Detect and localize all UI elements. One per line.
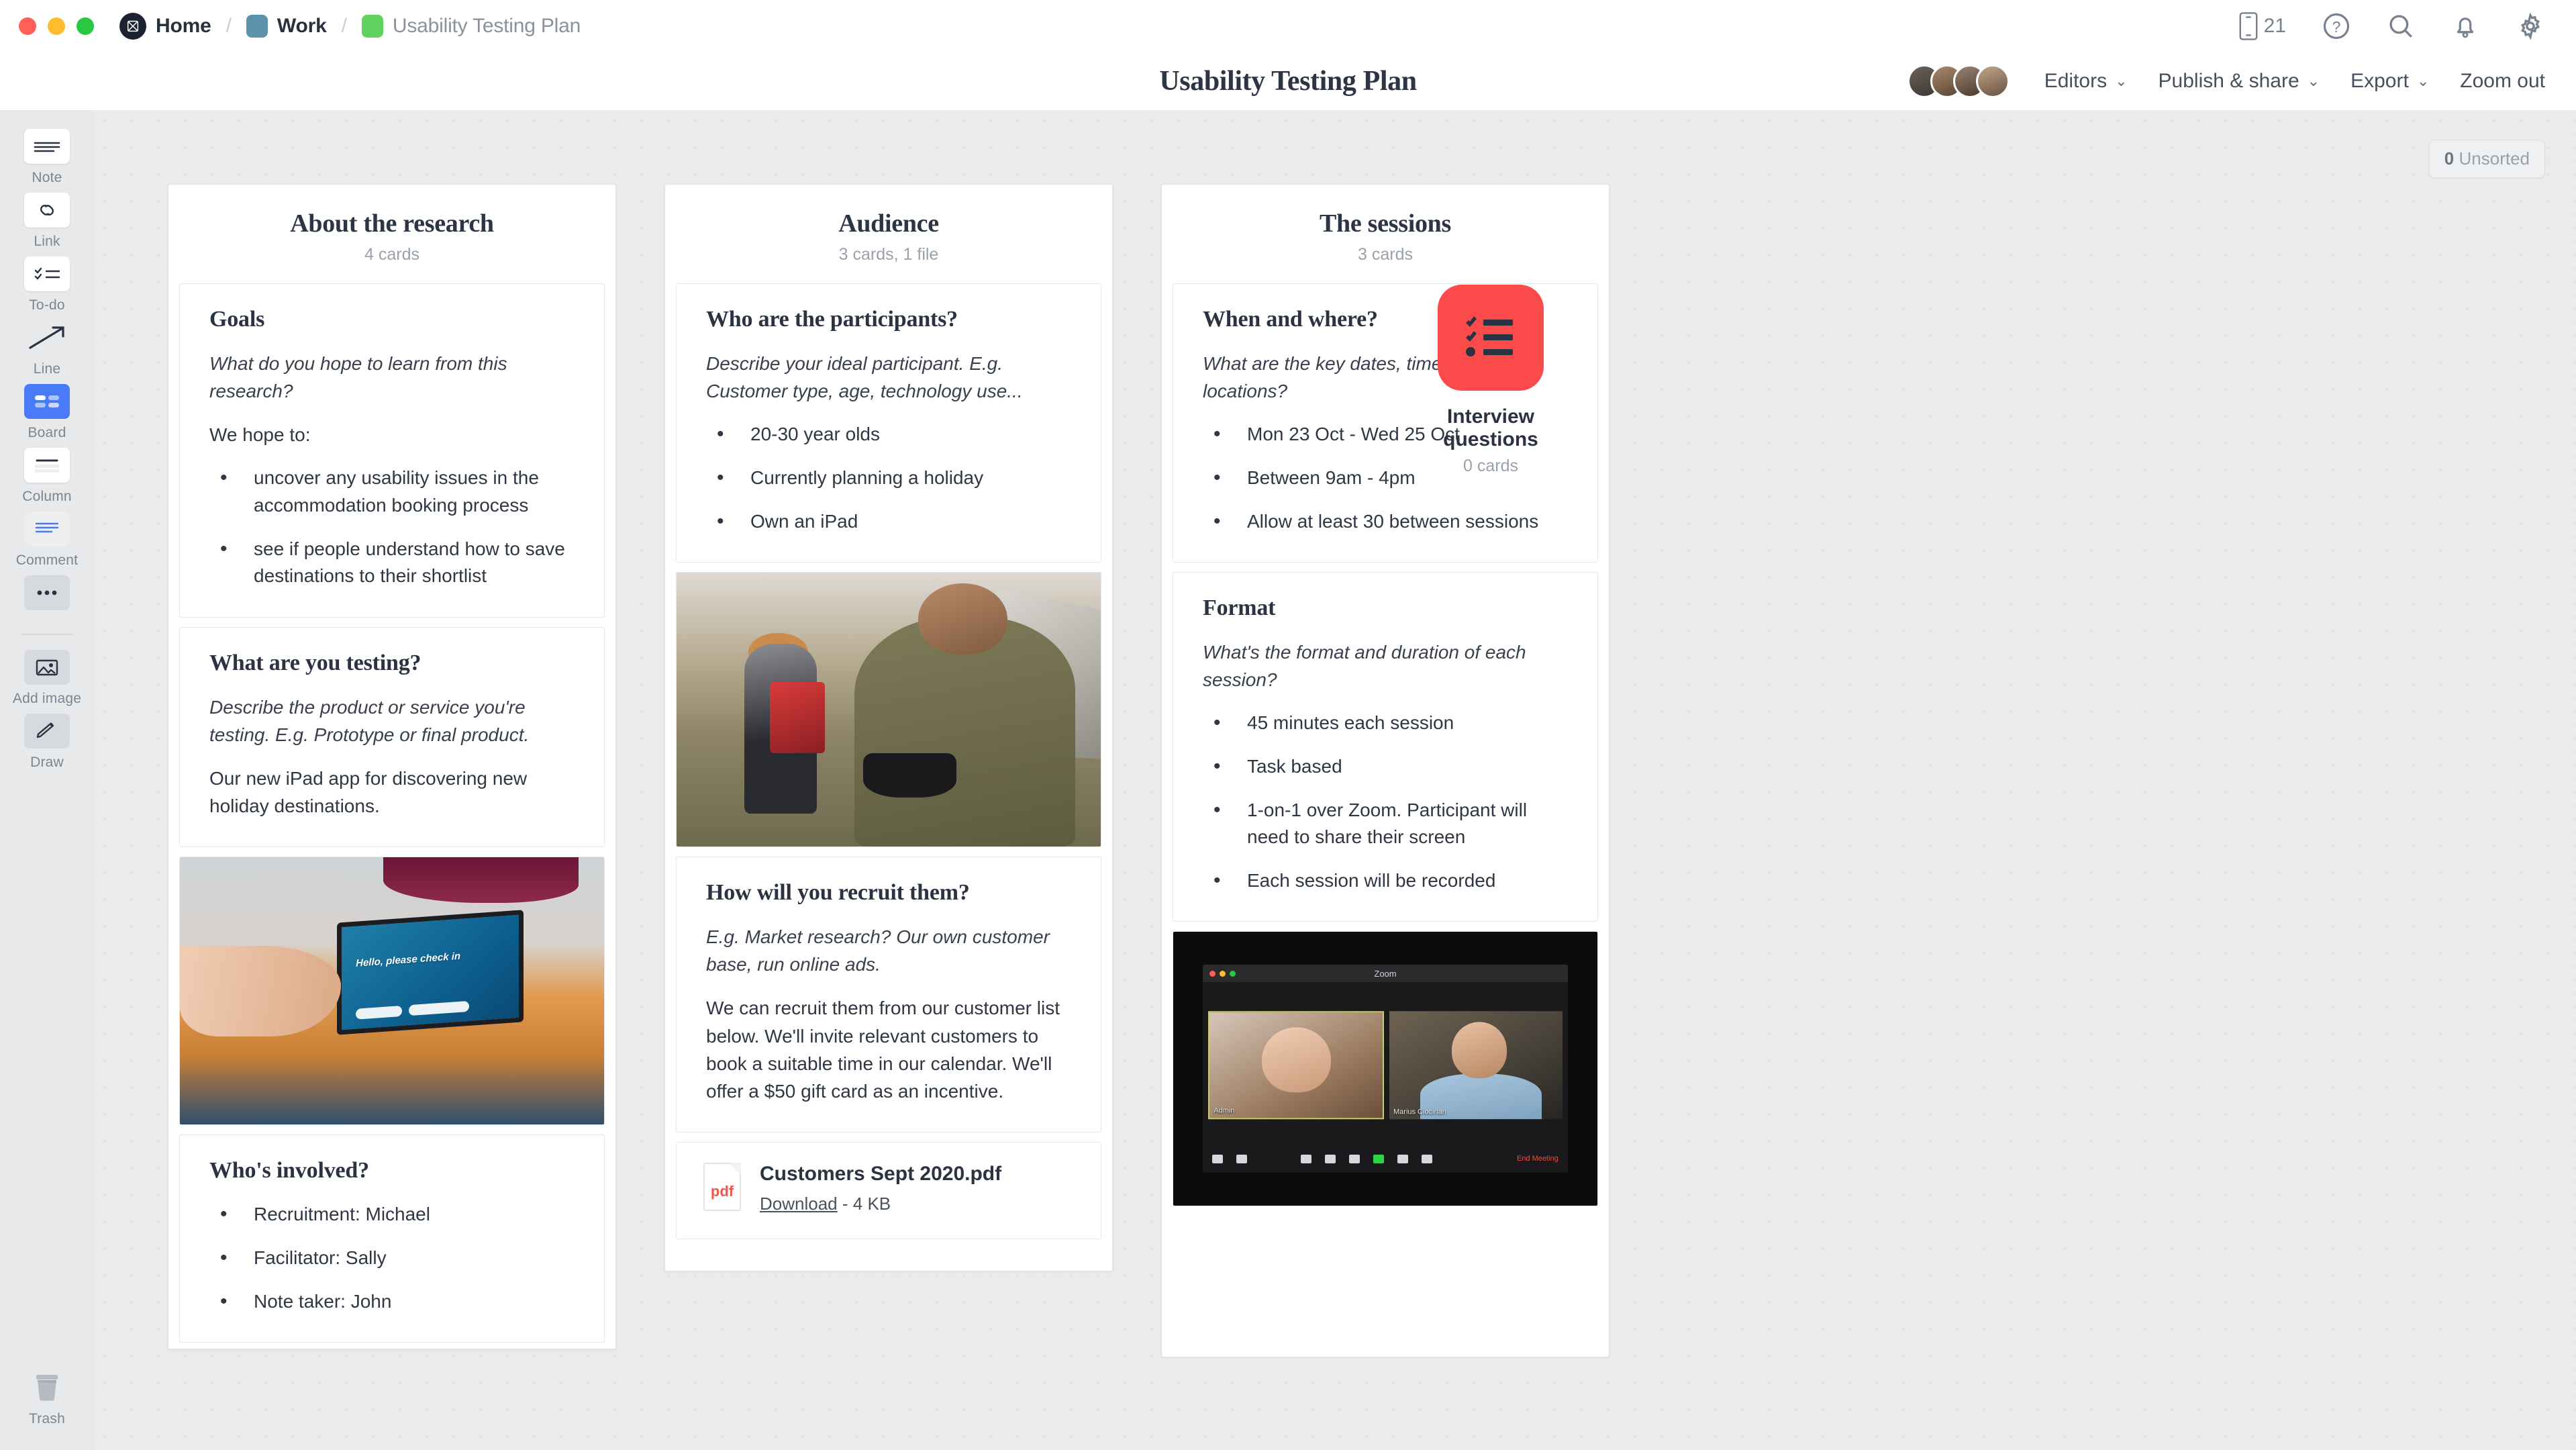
zoom-share-screen-icon [1373, 1155, 1384, 1163]
card-body: We hope to: [209, 421, 575, 448]
column-header: Audience 3 cards, 1 file [665, 185, 1112, 283]
breadcrumb-separator: / [226, 15, 232, 38]
trash-icon [24, 1370, 70, 1405]
zoom-participant-name: Admin [1213, 1106, 1234, 1114]
column-title: Audience [665, 209, 1112, 238]
ipad-screen-button [409, 1001, 469, 1016]
topbar-actions: 21 ? [2238, 11, 2545, 41]
board-canvas[interactable]: 0 Unsorted About the research 4 cards Go… [94, 110, 2576, 1450]
card-bullet-list: 20-30 year olds Currently planning a hol… [711, 421, 1071, 535]
card-title: Who's involved? [209, 1158, 575, 1183]
card-hint: Describe the product or service you're t… [209, 693, 575, 748]
column-subtitle: 3 cards, 1 file [665, 245, 1112, 264]
column-icon [24, 448, 70, 483]
breadcrumb: Home / Work / Usability Testing Plan [119, 13, 581, 40]
list-item: 1-on-1 over Zoom. Participant will need … [1208, 797, 1568, 851]
zoom-participant-face [1262, 1027, 1331, 1092]
sidebar-label-line: Line [34, 361, 61, 377]
avatar [1976, 64, 2010, 98]
gear-icon[interactable] [2516, 11, 2545, 41]
card-what-are-you-testing[interactable]: What are you testing? Describe the produ… [179, 627, 605, 848]
close-window-button[interactable] [19, 17, 36, 35]
document-toolbar: Usability Testing Plan Editors ⌄ Publish… [0, 52, 2576, 110]
sidebar-label-todo: To-do [29, 297, 65, 313]
card-body: We can recruit them from our customer li… [706, 994, 1071, 1105]
sidebar-item-board[interactable]: Board [0, 384, 94, 441]
zoom-participant-tile: Admin [1208, 1011, 1384, 1119]
toolbar-actions: Editors ⌄ Publish & share ⌄ Export ⌄ Zoo… [1908, 64, 2545, 98]
zoom-participant-tile: Marius Ciocirlan [1389, 1011, 1563, 1119]
list-item: see if people understand how to save des… [215, 536, 575, 590]
sidebar-item-note[interactable]: Note [0, 129, 94, 186]
board-tile-subtitle: 0 cards [1414, 456, 1568, 476]
unsorted-label: Unsorted [2459, 148, 2530, 168]
column-subtitle: 4 cards [168, 245, 615, 264]
zoom-out-button[interactable]: Zoom out [2460, 70, 2545, 93]
zoom-mute-icon [1212, 1155, 1223, 1163]
sidebar-item-trash[interactable]: Trash [24, 1370, 70, 1427]
card-image-hikers[interactable] [676, 572, 1101, 847]
sidebar-item-comment[interactable]: Comment [0, 512, 94, 569]
todo-icon [24, 256, 70, 291]
list-item: Currently planning a holiday [711, 465, 1071, 492]
photo-person-head [918, 583, 1007, 655]
publish-share-button[interactable]: Publish & share ⌄ [2159, 70, 2320, 93]
file-info: Customers Sept 2020.pdf Download - 4 KB [760, 1163, 1001, 1214]
photo-camera [863, 753, 956, 797]
sidebar-label-link: Link [34, 234, 60, 250]
publish-share-label: Publish & share [2159, 70, 2299, 93]
list-item: Recruitment: Michael [215, 1201, 575, 1228]
card-format[interactable]: Format What's the format and duration of… [1173, 572, 1598, 922]
minimize-window-button[interactable] [48, 17, 65, 35]
sidebar-divider [21, 634, 72, 635]
card-image-zoom-call[interactable]: Zoom Admin Marius Ciocirlan [1173, 931, 1598, 1206]
breadcrumb-item-current[interactable]: Usability Testing Plan [362, 15, 581, 38]
link-icon [24, 193, 70, 228]
breadcrumb-item-work[interactable]: Work [246, 15, 327, 38]
list-item: Allow at least 30 between sessions [1208, 508, 1568, 536]
zoom-video-icon [1236, 1155, 1247, 1163]
zoom-participants-icon [1325, 1155, 1336, 1163]
card-title: How will you recruit them? [706, 880, 1071, 906]
unsorted-count: 0 [2444, 148, 2454, 168]
sidebar-label-add-image: Add image [13, 691, 81, 707]
photo-bg-shape [383, 857, 579, 903]
list-item: Own an iPad [711, 508, 1071, 536]
sidebar-label-column: Column [22, 489, 72, 505]
photo-backpack [770, 682, 825, 753]
card-bullet-list: 45 minutes each session Task based 1-on-… [1208, 710, 1568, 894]
ipad-screen-button [356, 1006, 402, 1020]
export-button[interactable]: Export ⌄ [2350, 70, 2429, 93]
pdf-extension-label: pdf [711, 1183, 734, 1200]
zoom-toolbar: End Meeting [1203, 1145, 1568, 1173]
list-item: 45 minutes each session [1208, 710, 1568, 737]
board-tile-name: Interview questions [1414, 405, 1568, 451]
chevron-down-icon: ⌄ [2417, 72, 2429, 90]
board-tile-interview-questions[interactable]: Interview questions 0 cards [1414, 285, 1568, 476]
board-icon [24, 384, 70, 419]
card-hint: E.g. Market research? Our own customer b… [706, 923, 1071, 978]
card-file-customers-pdf[interactable]: pdf Customers Sept 2020.pdf Download - 4… [676, 1142, 1101, 1239]
column-about-the-research[interactable]: About the research 4 cards Goals What do… [168, 184, 616, 1349]
card-bullet-list: Recruitment: Michael Facilitator: Sally … [215, 1201, 575, 1315]
help-icon[interactable]: ? [2322, 12, 2350, 40]
breadcrumb-item-home[interactable]: Home [119, 13, 211, 40]
maximize-window-button[interactable] [77, 17, 94, 35]
list-item: Each session will be recorded [1208, 867, 1568, 895]
sidebar-item-link[interactable]: Link [0, 193, 94, 250]
sidebar-label-draw: Draw [30, 755, 64, 771]
list-item: 20-30 year olds [711, 421, 1071, 448]
window-titlebar: Home / Work / Usability Testing Plan 21 … [0, 0, 2576, 52]
zoom-out-label: Zoom out [2460, 70, 2545, 93]
column-title: The sessions [1162, 209, 1609, 238]
chevron-down-icon: ⌄ [2308, 72, 2320, 90]
zoom-call-screenshot: Zoom Admin Marius Ciocirlan [1173, 932, 1597, 1206]
zoom-participant-face [1452, 1022, 1507, 1078]
card-goals[interactable]: Goals What do you hope to learn from thi… [179, 283, 605, 618]
sidebar-label-trash: Trash [29, 1411, 65, 1427]
tool-sidebar: Note Link To-do Line Board Column [0, 110, 94, 1450]
column-subtitle: 3 cards [1162, 245, 1609, 264]
list-item: Task based [1208, 753, 1568, 781]
breadcrumb-label-current: Usability Testing Plan [393, 15, 581, 38]
ipad-screen-text: Hello, please check in [356, 950, 460, 971]
traffic-lights [19, 17, 94, 35]
card-title: Who are the participants? [706, 307, 1071, 332]
column-audience[interactable]: Audience 3 cards, 1 file Who are the par… [664, 184, 1113, 1271]
sidebar-item-todo[interactable]: To-do [0, 256, 94, 313]
zoom-end-meeting-label: End Meeting [1517, 1155, 1558, 1163]
card-how-will-you-recruit-them[interactable]: How will you recruit them? E.g. Market r… [676, 857, 1101, 1132]
card-whos-involved[interactable]: Who's involved? Recruitment: Michael Fac… [179, 1134, 605, 1343]
zoom-window-titlebar: Zoom [1203, 965, 1568, 982]
card-who-are-the-participants[interactable]: Who are the participants? Describe your … [676, 283, 1101, 563]
breadcrumb-label-home: Home [156, 15, 211, 38]
draw-pencil-icon [24, 714, 70, 748]
breadcrumb-separator-2: / [342, 15, 347, 38]
svg-text:?: ? [2332, 18, 2341, 36]
card-bullet-list: uncover any usability issues in the acco… [215, 465, 575, 589]
sidebar-item-line[interactable]: Line [0, 320, 94, 377]
column-title: About the research [168, 209, 615, 238]
card-hint: What's the format and duration of each s… [1203, 638, 1568, 693]
mobile-count: 21 [2264, 15, 2286, 38]
more-dots-icon [24, 575, 70, 610]
file-meta: Download - 4 KB [760, 1194, 1001, 1214]
card-title: Goals [209, 307, 575, 332]
sidebar-label-comment: Comment [16, 552, 78, 569]
sidebar-item-column[interactable]: Column [0, 448, 94, 505]
sidebar-label-board: Board [28, 425, 66, 441]
zoom-record-icon [1397, 1155, 1408, 1163]
mobile-icon[interactable]: 21 [2238, 11, 2286, 41]
card-hint: What do you hope to learn from this rese… [209, 350, 575, 405]
zoom-participant-name: Marius Ciocirlan [1393, 1108, 1446, 1116]
zoom-chat-icon [1349, 1155, 1360, 1163]
chevron-down-icon: ⌄ [2115, 72, 2127, 90]
unsorted-badge[interactable]: 0 Unsorted [2429, 140, 2545, 178]
milanote-logo-icon [119, 13, 146, 40]
column-header: The sessions 3 cards [1162, 185, 1609, 283]
zoom-window-title: Zoom [1203, 969, 1568, 979]
editor-avatars[interactable] [1908, 64, 2010, 98]
editors-button[interactable]: Editors ⌄ [2044, 70, 2128, 93]
card-title: Format [1203, 595, 1568, 621]
breadcrumb-swatch-current [362, 15, 383, 38]
sidebar-item-more[interactable] [0, 575, 94, 616]
download-link[interactable]: Download [760, 1194, 838, 1214]
card-hint: Describe your ideal participant. E.g. Cu… [706, 350, 1071, 405]
zoom-security-icon [1301, 1155, 1311, 1163]
checklist-icon [1438, 285, 1544, 391]
export-label: Export [2350, 70, 2409, 93]
breadcrumb-swatch-work [246, 15, 268, 38]
pdf-file-icon: pdf [703, 1163, 741, 1211]
ipad-screen: Hello, please check in [337, 910, 524, 1035]
list-item: Note taker: John [215, 1288, 575, 1316]
zoom-participant-tiles: Admin Marius Ciocirlan [1203, 1011, 1568, 1119]
search-icon[interactable] [2387, 12, 2415, 40]
bell-icon[interactable] [2451, 12, 2479, 40]
sidebar-item-draw[interactable]: Draw [0, 714, 94, 771]
sidebar-item-add-image[interactable]: Add image [0, 650, 94, 707]
two-hikers-with-camera-photo [677, 573, 1101, 847]
file-name: Customers Sept 2020.pdf [760, 1163, 1001, 1186]
photo-hand-shape [180, 946, 341, 1036]
line-arrow-icon [24, 320, 70, 355]
card-image-ipad[interactable]: Hello, please check in [179, 857, 605, 1125]
breadcrumb-label-work: Work [277, 15, 327, 38]
comment-icon [24, 512, 70, 546]
list-item: uncover any usability issues in the acco… [215, 465, 575, 519]
hand-touching-ipad-photo: Hello, please check in [180, 857, 604, 1124]
column-header: About the research 4 cards [168, 185, 615, 283]
note-icon [24, 129, 70, 164]
file-size: - 4 KB [842, 1194, 891, 1214]
editors-label: Editors [2044, 70, 2107, 93]
card-body: Our new iPad app for discovering new hol… [209, 765, 575, 820]
list-item: Facilitator: Sally [215, 1245, 575, 1272]
sidebar-label-note: Note [32, 170, 62, 186]
zoom-window: Zoom Admin Marius Ciocirlan [1203, 965, 1568, 1173]
card-title: What are you testing? [209, 650, 575, 676]
add-image-icon [24, 650, 70, 685]
zoom-reactions-icon [1422, 1155, 1432, 1163]
